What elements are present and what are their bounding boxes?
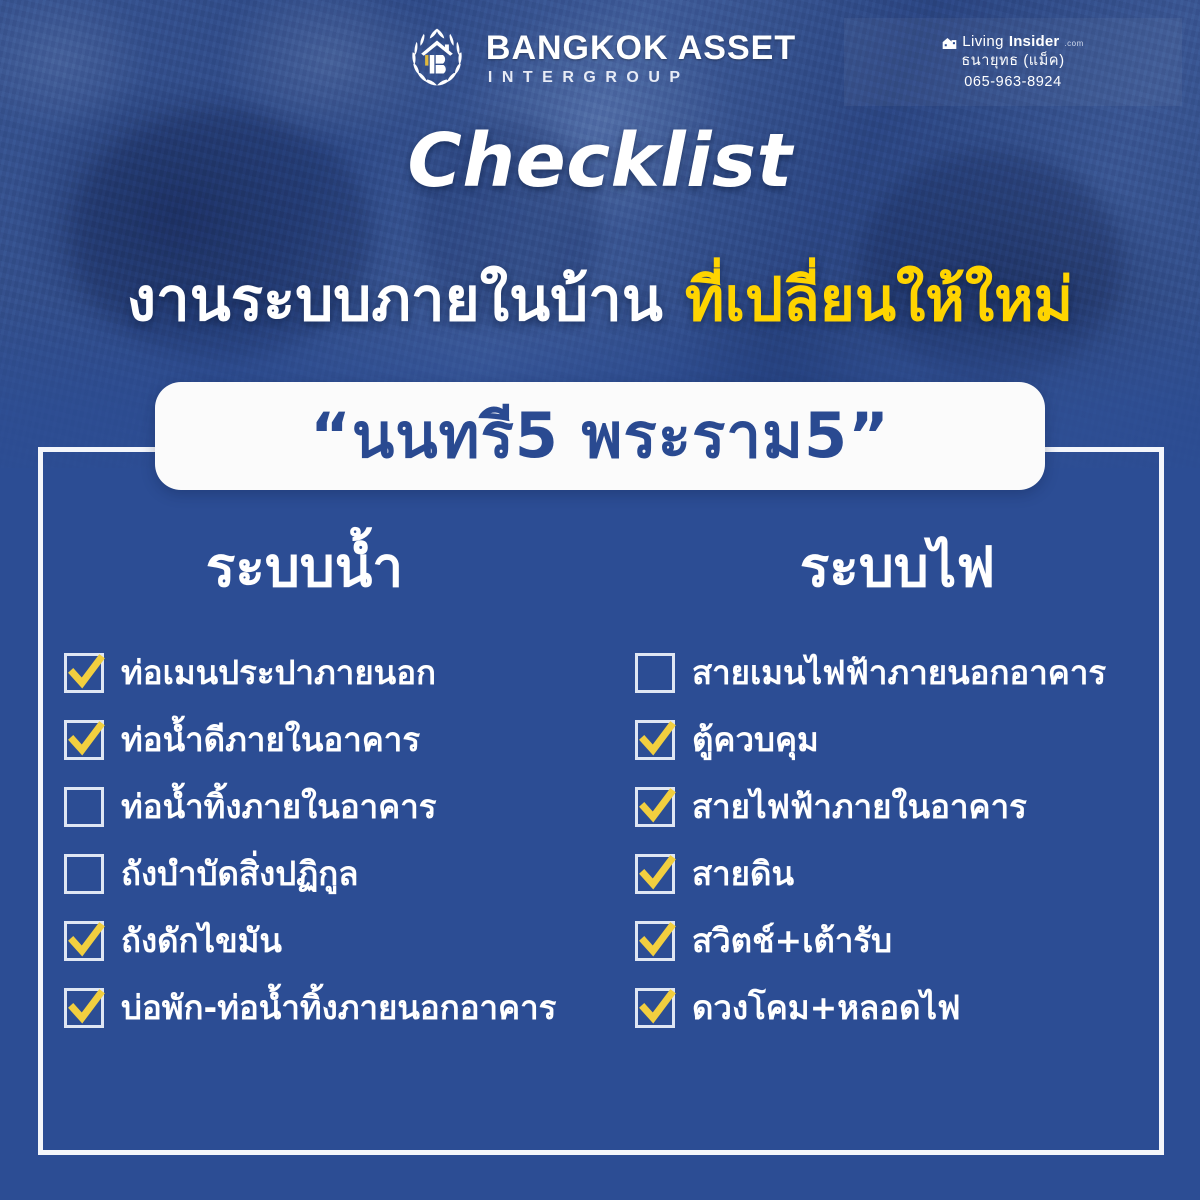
checklist-items-water: ท่อเมนประปาภายนอก ท่อน้ำดีภายในอาคาร ท่อ… xyxy=(38,653,601,1028)
checklist-item-label: ตู้ควบคุม xyxy=(692,722,819,758)
checklist-item[interactable]: ดวงโคม+หลอดไฟ xyxy=(635,988,1164,1028)
watermark-agent-name: ธนายุทธ (แม็ค) xyxy=(961,52,1064,70)
checklist-item-label: สายดิน xyxy=(692,856,794,892)
checklist-item-label: ท่อน้ำดีภายในอาคาร xyxy=(121,722,420,758)
watermark-dotcom-text: .com xyxy=(1064,39,1083,50)
checklist-item-label: สวิตช์+เต้ารับ xyxy=(692,923,892,959)
watermark-logo-row: Living Insider .com xyxy=(942,33,1084,50)
house-laurel-emblem-icon xyxy=(404,26,470,92)
checklist-item-label: สายไฟฟ้าภายในอาคาร xyxy=(692,789,1027,825)
checklist-poster: BANGKOK ASSET INTERGROUP Living Insider … xyxy=(0,0,1200,1200)
checklist-item[interactable]: ถังดักไขมัน xyxy=(64,921,601,961)
checklist-item-label: ถังบำบัดสิ่งปฏิกูล xyxy=(121,856,359,892)
checklist-column-water: ระบบน้ำ ท่อเมนประปาภายนอก ท่อน้ำดีภายในอ… xyxy=(38,540,601,1140)
checklist-item-label: ท่อน้ำทิ้งภายในอาคาร xyxy=(121,789,437,825)
checklist-item[interactable]: ท่อเมนประปาภายนอก xyxy=(64,653,601,693)
checkbox-checked-icon[interactable] xyxy=(635,854,675,894)
brand-title: BANGKOK ASSET xyxy=(486,31,796,67)
checklist-item[interactable]: ตู้ควบคุม xyxy=(635,720,1164,760)
checkbox-checked-icon[interactable] xyxy=(635,787,675,827)
watermark-living-text: Living xyxy=(962,33,1004,50)
watermark: Living Insider .com ธนายุทธ (แม็ค) 065-9… xyxy=(844,18,1182,106)
column-heading-water: ระบบน้ำ xyxy=(38,540,601,595)
checklist-columns: ระบบน้ำ ท่อเมนประปาภายนอก ท่อน้ำดีภายในอ… xyxy=(38,540,1164,1140)
checklist-item-label: ท่อเมนประปาภายนอก xyxy=(121,655,436,691)
checkbox-checked-icon[interactable] xyxy=(635,988,675,1028)
checklist-item-label: บ่อพัก-ท่อน้ำทิ้งภายนอกอาคาร xyxy=(121,990,556,1026)
checklist-item-label: สายเมนไฟฟ้าภายนอกอาคาร xyxy=(692,655,1106,691)
checklist-items-electrical: สายเมนไฟฟ้าภายนอกอาคาร ตู้ควบคุม สายไฟฟ้… xyxy=(601,653,1164,1028)
checklist-item[interactable]: ท่อน้ำทิ้งภายในอาคาร xyxy=(64,787,601,827)
project-name-text: “นนทรี5 พระราม5” xyxy=(310,387,890,485)
brand-text: BANGKOK ASSET INTERGROUP xyxy=(486,31,796,87)
checklist-item[interactable]: สวิตช์+เต้ารับ xyxy=(635,921,1164,961)
watermark-phone: 065-963-8924 xyxy=(964,73,1062,91)
checkbox-checked-icon[interactable] xyxy=(64,921,104,961)
checklist-item[interactable]: บ่อพัก-ท่อน้ำทิ้งภายนอกอาคาร xyxy=(64,988,601,1028)
checklist-item-label: ถังดักไขมัน xyxy=(121,923,282,959)
checkbox-empty-icon[interactable] xyxy=(635,653,675,693)
checkbox-checked-icon[interactable] xyxy=(64,988,104,1028)
checklist-item[interactable]: สายเมนไฟฟ้าภายนอกอาคาร xyxy=(635,653,1164,693)
checkbox-checked-icon[interactable] xyxy=(635,720,675,760)
subtitle-yellow-part: ที่เปลี่ยนให้ใหม่ xyxy=(685,265,1073,335)
watermark-insider-text: Insider xyxy=(1009,33,1060,50)
checklist-item[interactable]: ถังบำบัดสิ่งปฏิกูล xyxy=(64,854,601,894)
checkbox-checked-icon[interactable] xyxy=(64,653,104,693)
checklist-item-label: ดวงโคม+หลอดไฟ xyxy=(692,990,960,1026)
checkbox-empty-icon[interactable] xyxy=(64,854,104,894)
checklist-column-electrical: ระบบไฟ สายเมนไฟฟ้าภายนอกอาคาร ตู้ควบคุม … xyxy=(601,540,1164,1140)
checklist-item[interactable]: สายไฟฟ้าภายในอาคาร xyxy=(635,787,1164,827)
checkbox-empty-icon[interactable] xyxy=(64,787,104,827)
page-subtitle: งานระบบภายในบ้านที่เปลี่ยนให้ใหม่ xyxy=(0,252,1200,347)
livinginsider-house-icon xyxy=(942,35,957,48)
page-title: Checklist xyxy=(0,118,1200,204)
checklist-item[interactable]: สายดิน xyxy=(635,854,1164,894)
subtitle-white-part: งานระบบภายในบ้าน xyxy=(127,265,663,335)
checkbox-checked-icon[interactable] xyxy=(635,921,675,961)
column-heading-electrical: ระบบไฟ xyxy=(601,540,1164,595)
checklist-item[interactable]: ท่อน้ำดีภายในอาคาร xyxy=(64,720,601,760)
project-name-badge: “นนทรี5 พระราม5” xyxy=(155,382,1045,490)
brand-subtitle: INTERGROUP xyxy=(486,69,690,87)
checkbox-checked-icon[interactable] xyxy=(64,720,104,760)
